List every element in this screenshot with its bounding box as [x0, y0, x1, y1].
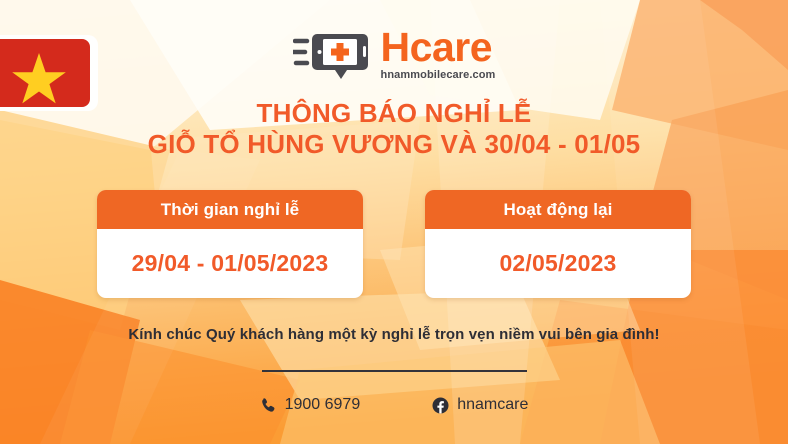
contact-phone-label: 1900 6979: [285, 396, 361, 414]
card-holiday-period: Thời gian nghỉ lễ 29/04 - 01/05/2023: [97, 190, 363, 298]
facebook-icon: [432, 397, 449, 414]
page-title: THÔNG BÁO NGHỈ LỄ GIỖ TỔ HÙNG VƯƠNG VÀ 3…: [0, 98, 788, 160]
brand-logo: Hcare hnammobilecare.com: [0, 26, 788, 82]
brand-tagline: hnammobilecare.com: [381, 68, 496, 82]
contact-facebook[interactable]: hnamcare: [432, 396, 528, 414]
phone-icon: [260, 397, 277, 414]
hcare-phone-cross-logo-icon: [293, 27, 371, 81]
card-holiday-period-value: 29/04 - 01/05/2023: [97, 229, 363, 298]
brand-name: Hcare: [381, 28, 492, 66]
card-holiday-period-header: Thời gian nghỉ lễ: [97, 190, 363, 229]
contact-facebook-label: hnamcare: [457, 396, 528, 414]
holiday-announcement-banner: Hcare hnammobilecare.com THÔNG BÁO NGHỈ …: [0, 0, 788, 444]
info-card-group: Thời gian nghỉ lễ 29/04 - 01/05/2023 Hoạ…: [97, 190, 691, 298]
brand-text: Hcare hnammobilecare.com: [381, 28, 496, 82]
greeting-message: Kính chúc Quý khách hàng một kỳ nghỉ lễ …: [0, 326, 788, 343]
card-reopen-date-value: 02/05/2023: [425, 229, 691, 298]
divider: [262, 370, 527, 372]
page-title-line-1: THÔNG BÁO NGHỈ LỄ: [0, 98, 788, 129]
card-reopen-date-header: Hoạt động lại: [425, 190, 691, 229]
page-title-line-2: GIỖ TỔ HÙNG VƯƠNG VÀ 30/04 - 01/05: [0, 129, 788, 160]
contact-phone[interactable]: 1900 6979: [260, 396, 361, 414]
card-reopen-date: Hoạt động lại 02/05/2023: [425, 190, 691, 298]
footer-contacts: 1900 6979 hnamcare: [0, 396, 788, 414]
